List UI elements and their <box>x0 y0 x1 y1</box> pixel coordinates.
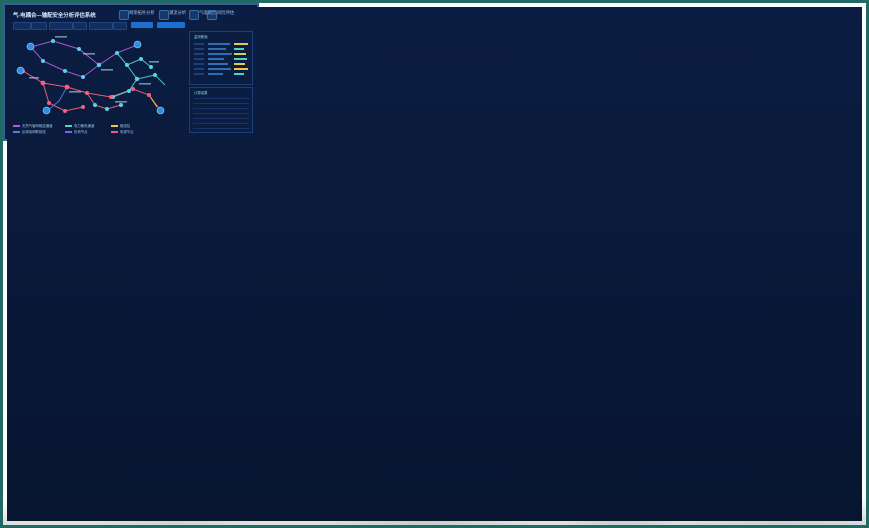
legend-swatch-source <box>111 131 118 133</box>
legend-swatch-hub <box>111 125 118 127</box>
legend-label-source: 电源节点 <box>120 129 134 134</box>
control-select-section[interactable] <box>73 22 87 30</box>
control-label-method <box>89 22 113 30</box>
panel-title-results: 计算结果 <box>194 90 208 95</box>
monitor-bars <box>190 41 252 83</box>
panel-title-monitor: 监测断面 <box>194 34 208 39</box>
export-results-button[interactable] <box>157 22 185 28</box>
nav-topology[interactable]: 网架拓扑分析 <box>129 10 155 16</box>
control-select-method[interactable] <box>113 22 127 30</box>
topology-icon[interactable] <box>119 10 129 20</box>
last-calc-status <box>191 22 249 28</box>
slide-canvas: · 电力系统分析与稳定控制* · 超/特高压直流输电、柔性直流电网* · 新能源… <box>0 0 869 528</box>
legend-swatch-gas <box>13 125 20 127</box>
network-topology-graph[interactable] <box>9 31 181 123</box>
coupling-icon[interactable] <box>189 10 199 20</box>
legend-label-tie: 区域电网联络线 <box>22 129 46 134</box>
risk-icon[interactable] <box>207 10 217 20</box>
legend-label-hub: 枢纽站 <box>120 123 130 128</box>
calculation-results-panel[interactable]: 计算结果 <box>189 87 253 133</box>
calculate-button[interactable] <box>131 22 153 28</box>
control-label-scene <box>13 22 31 30</box>
legend-label-load: 负荷节点 <box>74 129 88 134</box>
legend-swatch-power <box>65 125 72 127</box>
monitor-section-panel[interactable]: 监测断面 <box>189 31 253 85</box>
flow-icon[interactable] <box>159 10 169 20</box>
legend-swatch-load <box>65 131 72 133</box>
dashboard-title: 气-电耦合—输配安全分析评估系统 <box>13 11 96 19</box>
legend-label-power: 电力输电通道 <box>74 123 94 128</box>
nav-risk[interactable]: 风险评估 <box>217 10 234 16</box>
nav-flow[interactable]: 潮流分析 <box>169 10 186 16</box>
control-select-scene[interactable] <box>31 22 47 30</box>
control-label-section <box>49 22 73 30</box>
legend-label-gas: 天然气管网输送通道 <box>22 123 53 128</box>
legend-swatch-tie <box>13 131 20 133</box>
gas-power-coupling-dashboard: 气-电耦合—输配安全分析评估系统 网架拓扑分析 潮流分析 气电耦合 风险评估 <box>3 3 259 141</box>
